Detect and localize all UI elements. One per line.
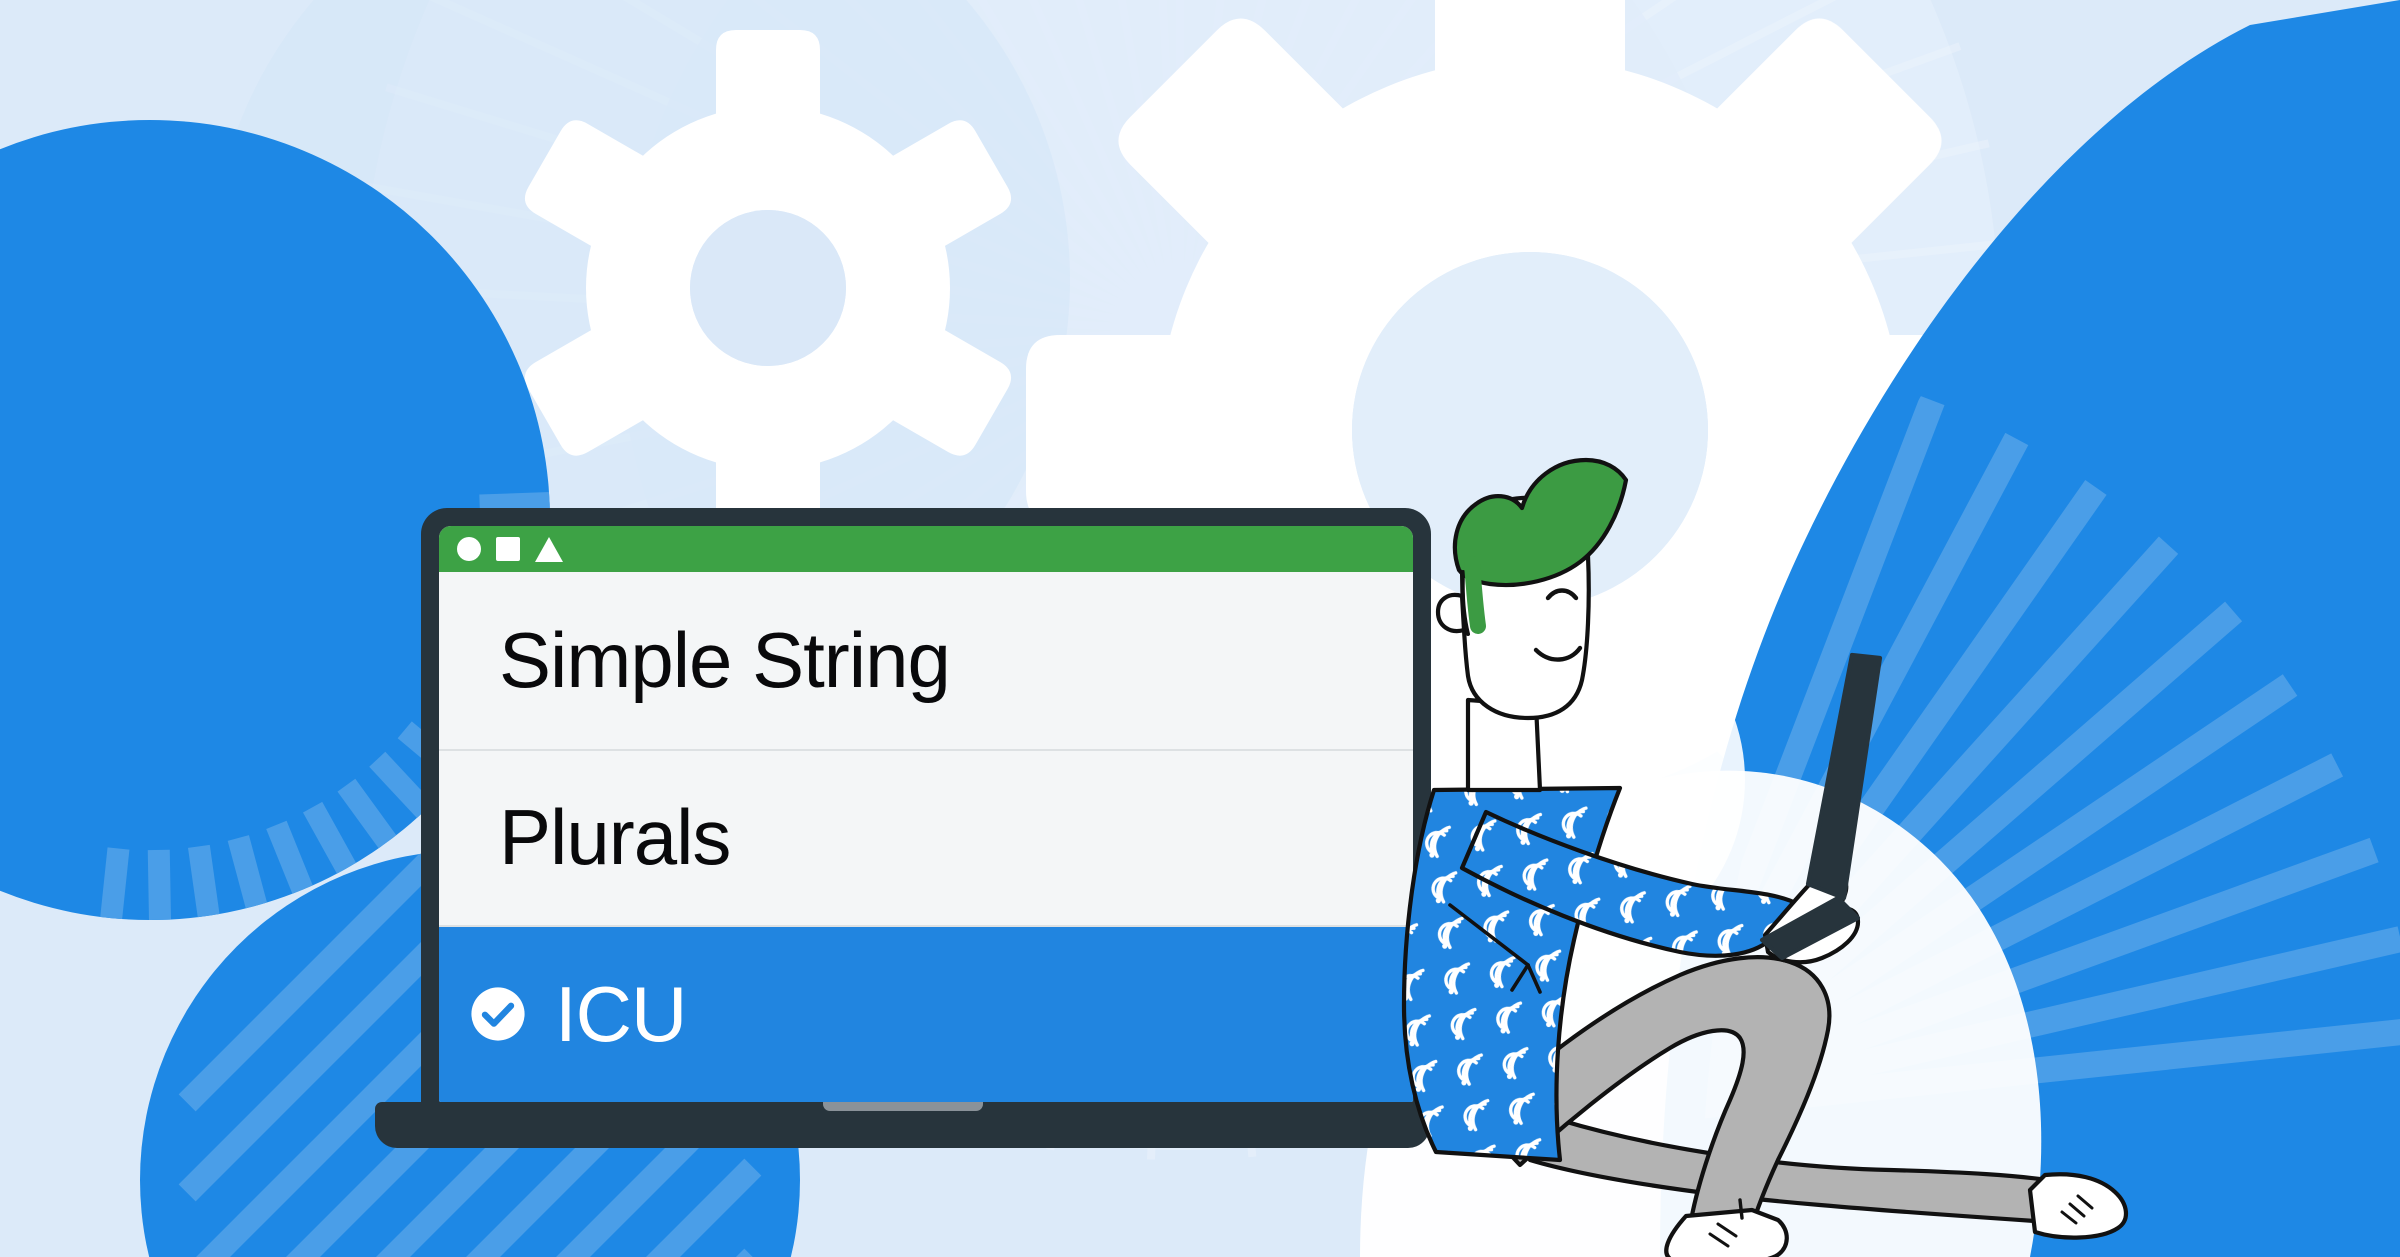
front-shoe <box>1666 1210 1786 1257</box>
held-laptop-screen <box>1808 655 1880 898</box>
illustration-canvas: Simple String Plurals ICU <box>0 0 2400 1257</box>
hair <box>1455 460 1626 585</box>
character-illustration <box>0 0 2400 1257</box>
back-shoe <box>2030 1174 2126 1237</box>
ear <box>1438 595 1464 631</box>
back-leg <box>1530 1120 2060 1222</box>
